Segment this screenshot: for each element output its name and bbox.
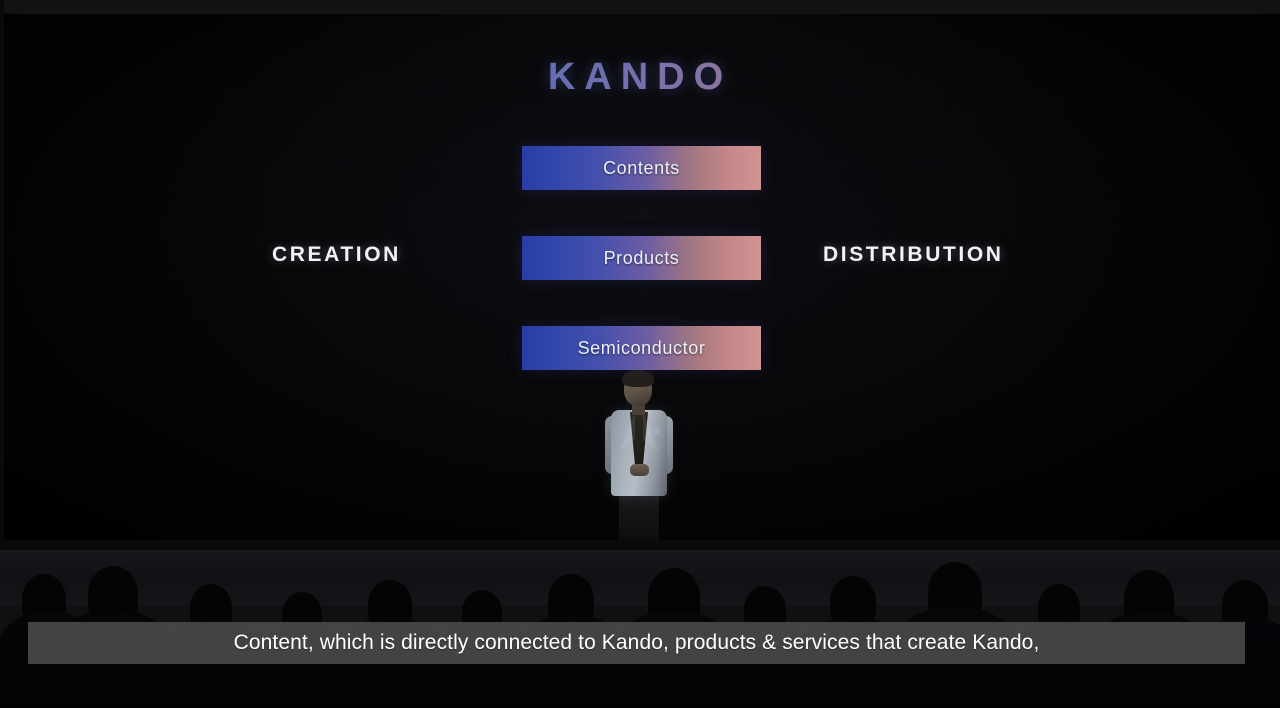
slide-bar-semiconductor: Semiconductor <box>522 326 761 370</box>
slide-bar-label: Contents <box>603 158 680 179</box>
slide-bar-label: Semiconductor <box>578 338 706 359</box>
presenter-hands <box>630 464 649 476</box>
slide-bar-contents: Contents <box>522 146 761 190</box>
subtitle-text: Content, which is directly connected to … <box>234 631 1040 655</box>
presenter-hair <box>622 370 654 387</box>
slide-bar-group: Contents Products Semiconductor <box>522 146 761 370</box>
slide-label-creation: CREATION <box>272 243 401 267</box>
subtitle-bar: Content, which is directly connected to … <box>28 622 1245 664</box>
slide-bar-label: Products <box>604 248 680 269</box>
video-frame: KANDO CREATION DISTRIBUTION Contents Pro… <box>0 0 1280 708</box>
slide-label-distribution: DISTRIBUTION <box>823 243 1004 267</box>
presenter-pocket-square <box>651 428 659 434</box>
presenter-figure <box>597 372 681 547</box>
slide-title-kando: KANDO <box>0 58 1280 96</box>
auditorium-back-wall <box>0 550 1280 584</box>
letterbox-top-band <box>0 0 1280 14</box>
slide-bar-products: Products <box>522 236 761 280</box>
